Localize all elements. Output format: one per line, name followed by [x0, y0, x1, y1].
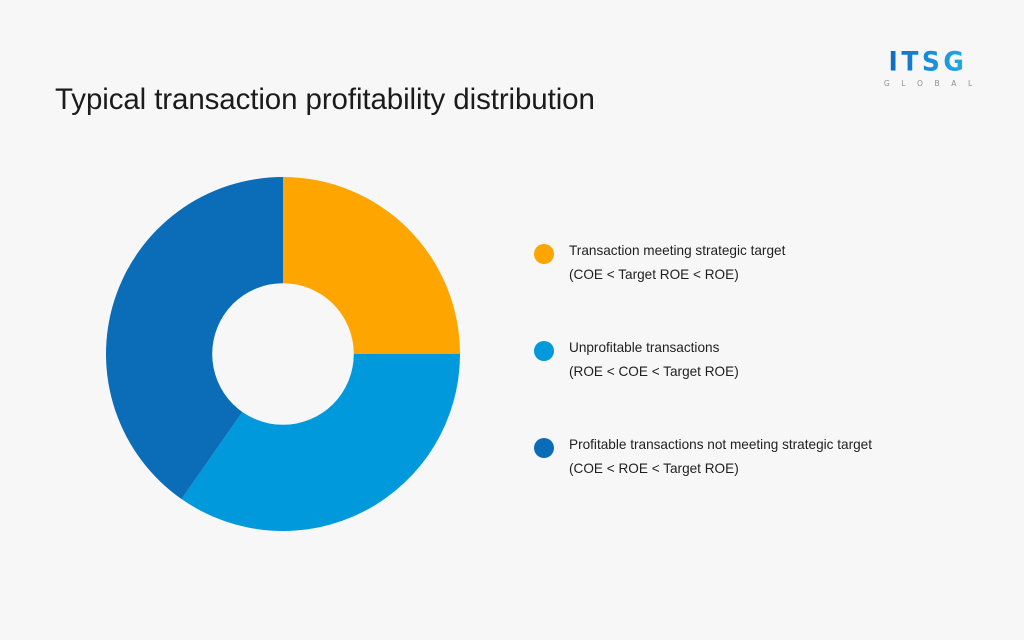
- legend-item-unprofitable-transactions[interactable]: Unprofitable transactions (ROE < COE < T…: [534, 338, 984, 381]
- donut-chart-svg: [106, 177, 460, 531]
- slide-canvas: Typical transaction profitability distri…: [0, 0, 1024, 640]
- legend-label-secondary: (COE < ROE < Target ROE): [569, 459, 984, 478]
- legend-label-secondary: (COE < Target ROE < ROE): [569, 265, 984, 284]
- legend-item-profitable-not-meeting-target[interactable]: Profitable transactions not meeting stra…: [534, 435, 984, 478]
- legend-label-secondary: (ROE < COE < Target ROE): [569, 362, 984, 381]
- brand-logo: ITSG G L O B A L: [876, 48, 980, 90]
- logo-wordmark-itsg: ITSG: [876, 48, 980, 75]
- legend-swatch-dark-blue-icon: [534, 438, 554, 458]
- logo-subtext-global: G L O B A L: [876, 79, 980, 88]
- legend-label-primary: Unprofitable transactions: [569, 338, 984, 357]
- legend-label-primary: Transaction meeting strategic target: [569, 241, 984, 260]
- donut-chart: [106, 177, 460, 531]
- page-title: Typical transaction profitability distri…: [55, 80, 595, 120]
- legend-swatch-light-blue-icon: [534, 341, 554, 361]
- donut-center-hole: [212, 283, 354, 425]
- legend-label-primary: Profitable transactions not meeting stra…: [569, 435, 984, 454]
- legend-item-transaction-meeting-strategic-target[interactable]: Transaction meeting strategic target (CO…: [534, 241, 984, 284]
- legend-swatch-orange-icon: [534, 244, 554, 264]
- chart-legend: Transaction meeting strategic target (CO…: [534, 241, 984, 478]
